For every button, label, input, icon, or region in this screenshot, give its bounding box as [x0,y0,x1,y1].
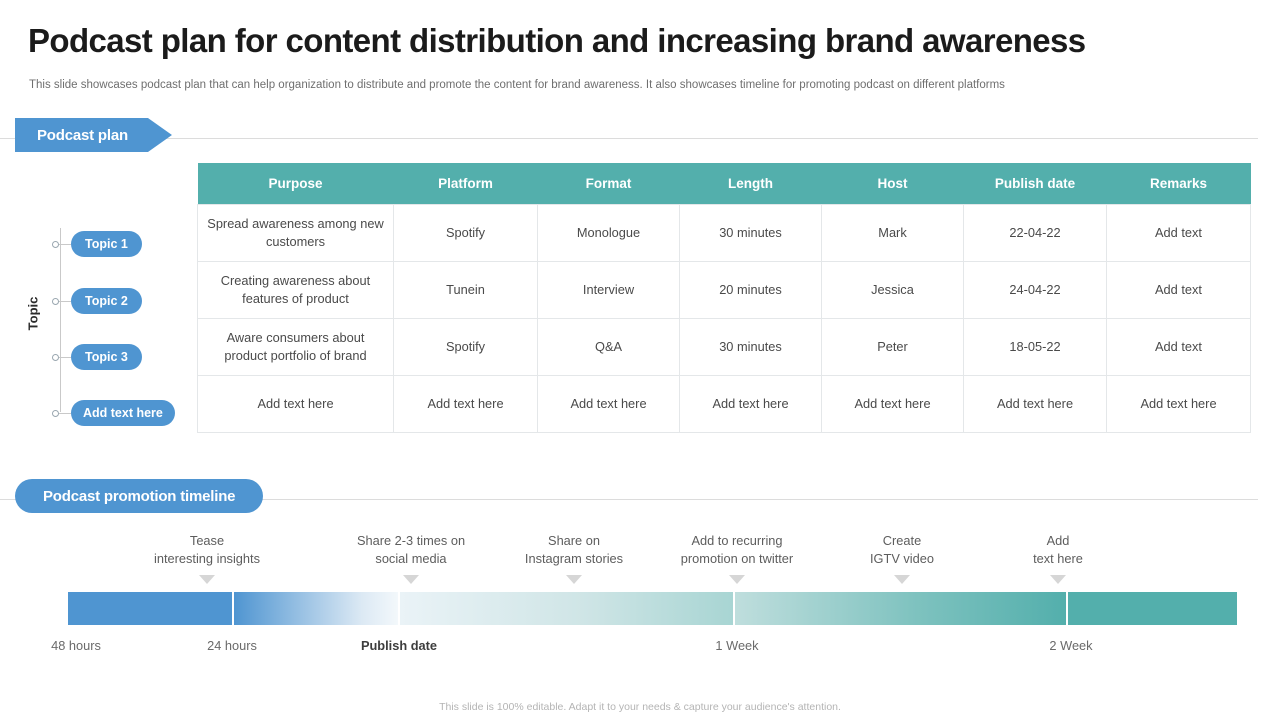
cell-remarks: Add text [1107,318,1251,375]
topic-item-4[interactable]: Add text here [52,400,175,426]
topic-pill-label: Topic 2 [71,288,142,314]
caret-down-icon [894,575,910,584]
column-header-purpose: Purpose [198,163,394,204]
cell-publish-date: Add text here [964,375,1107,432]
cell-remarks: Add text here [1107,375,1251,432]
column-header-platform: Platform [394,163,538,204]
timeline-gradient-bar [68,592,1237,625]
timeline-milestone-3: Share on Instagram stories [525,532,623,568]
cell-host: Add text here [822,375,964,432]
cell-format: Monologue [538,204,680,261]
timeline-tick-publish-date: Publish date [361,638,437,653]
milestone-line-2: social media [375,551,446,566]
cell-remarks: Add text [1107,204,1251,261]
timeline-tick-24-hours: 24 hours [207,638,257,653]
podcast-plan-banner-row: Podcast plan [0,118,1280,158]
cell-purpose: Aware consumers about product portfolio … [198,318,394,375]
timeline-tick-1-week: 1 Week [715,638,758,653]
timeline-banner-row: Podcast promotion timeline [0,479,1280,519]
table-header-row: Purpose Platform Format Length Host Publ… [198,163,1251,204]
column-header-remarks: Remarks [1107,163,1251,204]
cell-platform: Add text here [394,375,538,432]
page-subtitle: This slide showcases podcast plan that c… [29,79,1259,91]
topic-rail: Topic Topic 1 Topic 2 Topic 3 Add text h… [24,218,196,438]
cell-host: Jessica [822,261,964,318]
topic-pill-label: Topic 1 [71,231,142,257]
table-row: Spread awareness among new customers Spo… [198,204,1251,261]
cell-host: Peter [822,318,964,375]
topic-item-3[interactable]: Topic 3 [52,344,142,370]
timeline-milestone-5: Create IGTV video [870,532,934,568]
column-header-host: Host [822,163,964,204]
topic-node-icon [52,298,59,305]
cell-purpose: Add text here [198,375,394,432]
cell-host: Mark [822,204,964,261]
timeline-tick-2-week: 2 Week [1049,638,1092,653]
topic-connector-line [59,413,71,414]
topic-connector-line [59,244,71,245]
topic-node-icon [52,354,59,361]
podcast-promotion-timeline-banner: Podcast promotion timeline [15,479,263,513]
column-header-length: Length [680,163,822,204]
table-row: Aware consumers about product portfolio … [198,318,1251,375]
cell-format: Q&A [538,318,680,375]
caret-down-icon [403,575,419,584]
topic-item-1[interactable]: Topic 1 [52,231,142,257]
milestone-line-2: promotion on twitter [681,551,793,566]
timeline-milestone-1: Tease interesting insights [154,532,260,568]
timeline-milestone-2: Share 2-3 times on social media [357,532,465,568]
milestone-line-1: Share 2-3 times on [357,533,465,548]
page-title: Podcast plan for content distribution an… [28,22,1258,60]
milestone-line-1: Add [1047,533,1070,548]
milestone-line-1: Tease [190,533,224,548]
topic-pill-label: Add text here [71,400,175,426]
cell-publish-date: 22-04-22 [964,204,1107,261]
cell-length: 30 minutes [680,318,822,375]
cell-length: 20 minutes [680,261,822,318]
cell-publish-date: 18-05-22 [964,318,1107,375]
timeline-segment-2 [234,592,400,625]
milestone-line-2: text here [1033,551,1083,566]
cell-format: Interview [538,261,680,318]
topic-node-icon [52,241,59,248]
slide-root: Podcast plan for content distribution an… [0,0,1280,720]
column-header-publish-date: Publish date [964,163,1107,204]
topic-connector-line [59,301,71,302]
milestone-line-1: Share on [548,533,600,548]
milestone-line-2: interesting insights [154,551,260,566]
cell-publish-date: 24-04-22 [964,261,1107,318]
podcast-plan-banner: Podcast plan [15,118,172,152]
cell-platform: Spotify [394,318,538,375]
milestone-line-1: Add to recurring [691,533,782,548]
cell-platform: Spotify [394,204,538,261]
cell-purpose: Creating awareness about features of pro… [198,261,394,318]
timeline-tick-48-hours: 48 hours [51,638,101,653]
slide-footer-note: This slide is 100% editable. Adapt it to… [0,701,1280,713]
milestone-line-2: IGTV video [870,551,934,566]
banner-divider-line [0,138,1258,139]
caret-down-icon [729,575,745,584]
milestone-line-2: Instagram stories [525,551,623,566]
timeline-milestone-4: Add to recurring promotion on twitter [681,532,793,568]
cell-format: Add text here [538,375,680,432]
timeline-segment-5 [1068,592,1237,625]
timeline-segment-4 [735,592,1068,625]
milestone-line-1: Create [883,533,921,548]
topic-connector-line [59,357,71,358]
podcast-plan-table: Purpose Platform Format Length Host Publ… [197,163,1251,433]
table-row: Creating awareness about features of pro… [198,261,1251,318]
timeline-milestone-6: Add text here [1033,532,1083,568]
cell-length: 30 minutes [680,204,822,261]
topic-axis-label: Topic [25,297,40,331]
caret-down-icon [199,575,215,584]
table-row: Add text here Add text here Add text her… [198,375,1251,432]
caret-down-icon [1050,575,1066,584]
column-header-format: Format [538,163,680,204]
cell-remarks: Add text [1107,261,1251,318]
cell-purpose: Spread awareness among new customers [198,204,394,261]
timeline-segment-3 [400,592,735,625]
topic-pill-label: Topic 3 [71,344,142,370]
cell-length: Add text here [680,375,822,432]
topic-node-icon [52,410,59,417]
cell-platform: Tunein [394,261,538,318]
caret-down-icon [566,575,582,584]
timeline-segment-1 [68,592,234,625]
topic-item-2[interactable]: Topic 2 [52,288,142,314]
